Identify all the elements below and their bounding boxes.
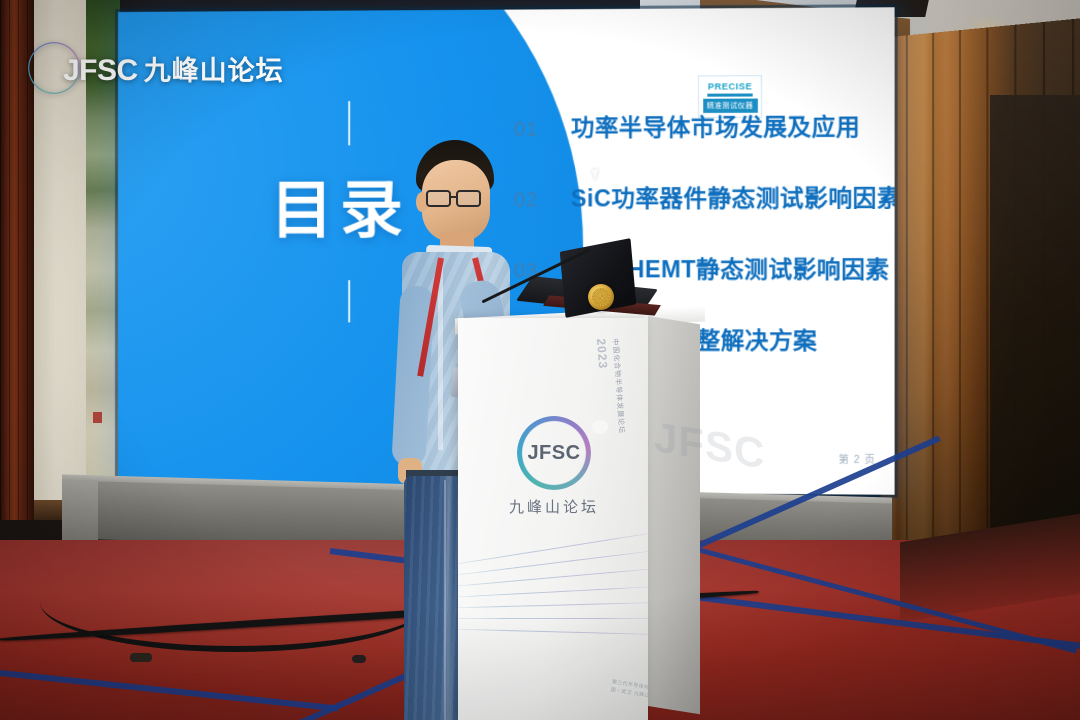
agenda-number: 01 (514, 118, 571, 141)
podium-footer-text: 第三代半导体材料与器件产业发展高峰论坛 中国・武汉 九峰山实验室 (610, 678, 648, 713)
eyeglasses-bridge (451, 196, 457, 198)
agenda-item: 01 功率半导体市场发展及应用 (514, 107, 885, 143)
podium: JFSC 九峰山论坛 2023 中国化合物半导体发展论坛 第三代半导体材料与器件… (458, 318, 648, 720)
slide-page-number: 第 2 页 (838, 451, 875, 466)
conference-photo-scene: 目录 PRECISE 精准测试仪器 01 功率半导体市场发展及应用 02 SiC… (0, 0, 1080, 720)
podium-logo-cn: 九峰山论坛 (502, 496, 606, 517)
agenda-number: 02 (514, 189, 571, 212)
podium-logo: JFSC 九峰山论坛 (502, 416, 606, 517)
gavel-ornament-icon (588, 284, 614, 310)
podium-side-panel: JFSC (648, 316, 700, 714)
precise-wordmark: PRECISE (708, 81, 752, 91)
ring-gap (592, 420, 608, 434)
ring-gap (67, 44, 79, 55)
eyeglasses-icon (456, 190, 481, 207)
agenda-item: 02 SiC功率器件静态测试影响因素 (514, 179, 885, 214)
podium-decorative-lines (458, 564, 648, 636)
podium-logo-wordmark: JFSC (502, 442, 606, 465)
agenda-label: 功率半导体市场发展及应用 (571, 107, 860, 142)
title-divider-top (348, 101, 350, 145)
podium-vertical-year: 2023 (594, 338, 610, 370)
cable-tie-icon (352, 655, 366, 663)
podium-vertical-text: 中国化合物半导体发展论坛 (610, 338, 627, 434)
title-divider-bottom (348, 280, 350, 322)
watermark: JFSC 九峰山论坛 (28, 42, 284, 94)
cable-tie-icon (130, 653, 152, 662)
red-seal-icon (93, 412, 102, 423)
eyeglasses-icon (426, 190, 451, 207)
wall-dark-recess (990, 95, 1080, 550)
jfsc-ring-logo-icon (28, 42, 80, 94)
watermark-text: JFSC 九峰山论坛 (63, 49, 284, 88)
precise-bar (707, 93, 752, 96)
watermark-brand-cn: 九峰山论坛 (144, 49, 284, 88)
agenda-label: SiC功率器件静态测试影响因素 (571, 179, 895, 214)
shirt-placket (438, 260, 443, 450)
jeans-seam (444, 480, 446, 720)
